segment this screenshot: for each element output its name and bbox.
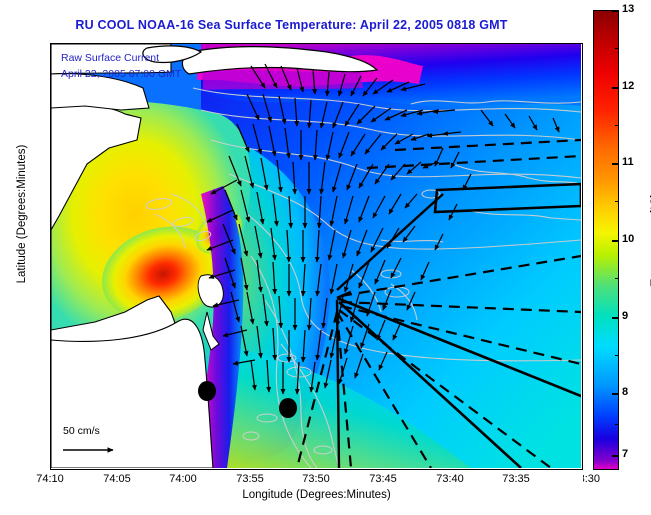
figure-title: RU COOL NOAA-16 Sea Surface Temperature:… (0, 18, 583, 32)
region-li-shore-cold2 (203, 70, 363, 90)
xtick-73-30: 73:30 (583, 473, 604, 485)
map-axes: Raw Surface Current April 22, 2005 07:00… (50, 43, 583, 470)
cbtick-12: 12 (622, 87, 634, 99)
cbtick-mark-11 (612, 163, 619, 165)
cbtick-minor (615, 278, 619, 279)
vector-scale-arrow (61, 442, 131, 458)
sst-map (51, 44, 581, 468)
xtick-73-35: 73:35 (516, 473, 544, 485)
cbtick-8: 8 (622, 393, 628, 405)
cbtick-9: 9 (622, 317, 628, 329)
xtick-74-10: 74:10 (50, 473, 78, 485)
xtick-74-05: 74:05 (117, 473, 145, 485)
cbtick-10: 10 (622, 240, 634, 252)
station-marker-1[interactable] (198, 381, 216, 401)
x-axis-label: Longitude (Degrees:Minutes) (50, 489, 583, 501)
overlay-note-line2: April 22, 2005 07:00 GMT (61, 68, 181, 80)
station-marker-2[interactable] (279, 398, 297, 418)
cbtick-minor (615, 201, 619, 202)
figure-canvas: RU COOL NOAA-16 Sea Surface Temperature:… (0, 0, 651, 515)
cbtick-mark-12 (612, 87, 619, 89)
y-axis-label: Latitude (Degrees:Minutes) (16, 64, 28, 364)
xtick-73-50: 73:50 (316, 473, 344, 485)
cbtick-mark-13 (612, 10, 619, 12)
cbtick-mark-9 (612, 317, 619, 319)
cbtick-11: 11 (622, 163, 634, 175)
cbtick-13: 13 (622, 10, 634, 22)
cbtick-mark-7 (612, 455, 619, 457)
cbtick-minor (615, 48, 619, 49)
cbtick-mark-10 (612, 240, 619, 242)
cbtick-minor (615, 424, 619, 425)
cbtick-minor (615, 125, 619, 126)
xtick-73-55: 73:55 (250, 473, 278, 485)
xtick-73-40: 73:40 (450, 473, 478, 485)
cbtick-minor (615, 355, 619, 356)
vector-scale-label: 50 cm/s (63, 425, 100, 437)
xtick-74-00: 74:00 (183, 473, 211, 485)
overlay-note-line1: Raw Surface Current (61, 52, 159, 64)
cbtick-mark-8 (612, 393, 619, 395)
cbtick-7: 7 (622, 455, 628, 467)
xtick-73-45: 73:45 (383, 473, 411, 485)
